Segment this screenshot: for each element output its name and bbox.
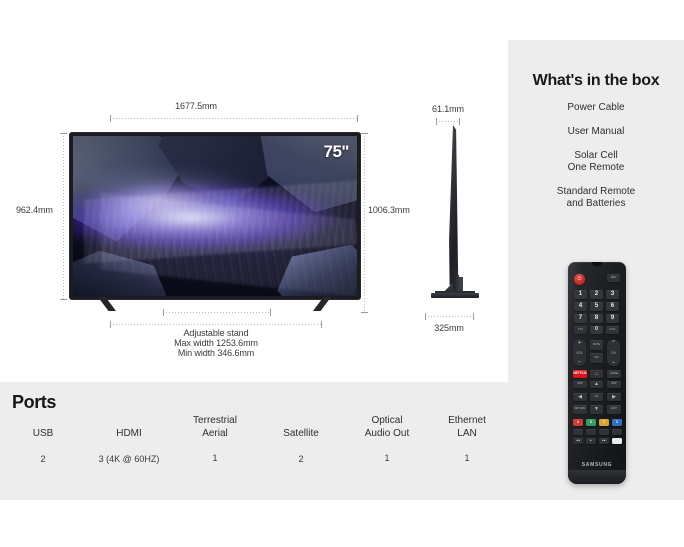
dimension-tick-stand-depth-right: [473, 313, 474, 320]
samsung-brand-logo: SAMSUNG: [568, 462, 626, 468]
key-8[interactable]: 8: [590, 314, 603, 323]
dimension-tick-right: [357, 115, 358, 122]
teletext-button[interactable]: TTX: [574, 326, 587, 334]
dimension-tick-bottom: [60, 299, 67, 300]
exit-button[interactable]: EXIT: [607, 405, 621, 414]
tv-stand-base: [431, 293, 479, 298]
dimension-tick-stand-depth-left: [425, 313, 426, 320]
channel-up-icon[interactable]: ⌃: [611, 341, 615, 346]
box-item-line1: Standard Remote: [508, 186, 684, 198]
dimension-tick-depth-right: [459, 118, 460, 125]
port-value: 3 (4K @ 60HZ): [84, 454, 174, 464]
dimension-tick-stand-max-right: [321, 321, 322, 328]
box-item-line1: User Manual: [508, 126, 684, 138]
port-value: 2: [262, 454, 340, 464]
port-name-line2: Aerial: [172, 428, 258, 441]
dimension-tick-depth-left: [436, 118, 437, 125]
port-column-hdmi: HDMI 3 (4K @ 60HZ): [84, 428, 174, 464]
port-column-ethernet-lan: Ethernet LAN 1: [432, 415, 502, 463]
volume-label: VOL: [576, 351, 582, 355]
guide-button[interactable]: GUIDE: [607, 370, 621, 378]
port-column-optical-audio-out: Optical Audio Out 1: [344, 415, 430, 463]
app-shortcut-1-button[interactable]: APP: [573, 381, 587, 388]
box-item-user-manual: User Manual: [508, 126, 684, 138]
ok-button[interactable]: OK: [590, 393, 603, 401]
screen-wallpaper: [73, 136, 357, 296]
ports-panel: Ports USB 2 HDMI 3 (4K @ 60HZ) Terrestri…: [0, 382, 508, 500]
dimension-label-panel-height: 962.4mm: [16, 205, 53, 215]
remote-ir-notch: [592, 262, 602, 266]
key-1[interactable]: 1: [574, 290, 587, 299]
ports-title: Ports: [12, 392, 56, 413]
dimension-line-total-height: [364, 133, 365, 313]
port-value: 1: [344, 453, 430, 463]
key-9[interactable]: 9: [606, 314, 619, 323]
screen-size-badge: 75": [324, 142, 349, 162]
port-value: 2: [12, 454, 74, 464]
box-item-solar-cell-one-remote: Solar Cell One Remote: [508, 150, 684, 174]
port-value: 1: [432, 453, 502, 463]
box-item-power-cable: Power Cable: [508, 102, 684, 114]
port-column-terrestrial-aerial: Terrestrial Aerial 1: [172, 415, 258, 463]
tv-side-view: [425, 125, 485, 310]
tv-front-view: 75": [70, 133, 360, 299]
port-name-line1: Satellite: [262, 428, 340, 441]
tv-leg-left: [98, 297, 116, 311]
box-item-line2: and Batteries: [508, 198, 684, 210]
color-button-blue[interactable]: D: [612, 419, 622, 426]
dimension-tick-stand-max-left: [110, 321, 111, 328]
dimension-tick-total-top: [361, 133, 368, 134]
tv-screen: 75": [73, 136, 357, 296]
port-column-satellite: Satellite 2: [262, 428, 340, 464]
dimension-line-stand-max: [110, 324, 322, 325]
key-5[interactable]: 5: [590, 302, 603, 311]
dimension-tick-stand-min-left: [163, 309, 164, 316]
remote-bottom-cap: [568, 470, 626, 484]
pre-channel-button[interactable]: P.CH: [606, 326, 619, 334]
media-button-2[interactable]: [586, 429, 596, 435]
box-item-line1: Power Cable: [508, 102, 684, 114]
port-name-line1: Optical: [344, 415, 430, 428]
whats-in-the-box-title: What's in the box: [508, 72, 684, 90]
stand-max-width-label: Max width 1253.6mm: [174, 338, 258, 348]
media-forward-button[interactable]: ▶▶: [599, 438, 609, 444]
volume-up-icon[interactable]: +: [578, 341, 581, 346]
tv-side-panel: [447, 125, 460, 285]
media-button-1[interactable]: [573, 429, 583, 435]
dimension-label-stand-depth: 325mm: [434, 323, 464, 333]
key-0[interactable]: 0: [590, 326, 603, 334]
stand-min-width-label: Min width 346.6mm: [178, 348, 254, 358]
media-button-3[interactable]: [599, 429, 609, 435]
port-name-line1: HDMI: [84, 428, 174, 441]
port-name-line1: Terrestrial: [172, 415, 258, 428]
port-name-line2: Audio Out: [344, 428, 430, 441]
port-name-line1: Ethernet: [432, 415, 502, 428]
box-item-standard-remote-batteries: Standard Remote and Batteries: [508, 186, 684, 210]
color-button-green[interactable]: B: [586, 419, 596, 426]
color-button-red[interactable]: A: [573, 419, 583, 426]
port-value: 1: [172, 453, 258, 463]
dimension-tick-total-bottom: [361, 312, 368, 313]
dimension-tick-left: [110, 115, 111, 122]
port-name-line2: LAN: [432, 428, 502, 441]
dimension-tick-stand-min-right: [270, 309, 271, 316]
stand-title: Adjustable stand: [184, 328, 249, 338]
channel-label: CH: [611, 351, 616, 355]
media-stop-button[interactable]: [612, 438, 622, 444]
channel-down-icon[interactable]: ⌄: [611, 360, 615, 365]
dimension-line-front-width: [110, 118, 358, 119]
source-button[interactable]: SRC: [607, 274, 620, 282]
key-6[interactable]: 6: [606, 302, 619, 311]
power-button[interactable]: ⏻: [574, 274, 585, 285]
dpad-left-button[interactable]: ◀: [573, 393, 587, 401]
dimension-line-stand-min: [163, 312, 271, 313]
key-4[interactable]: 4: [574, 302, 587, 311]
dimension-label-depth: 61.1mm: [432, 104, 464, 114]
box-item-line1: Solar Cell: [508, 150, 684, 162]
mute-button[interactable]: MUTE: [590, 340, 603, 350]
product-spec-sheet: 1677.5mm 962.4mm 1006.3mm: [0, 0, 684, 547]
dimension-label-total-height: 1006.3mm: [368, 205, 410, 215]
dimension-line-stand-depth: [425, 316, 474, 317]
remote-control: ⏻ SRC 1 2 3 4 5 6 7 8 9 TTX 0 P.CH + VOL…: [568, 262, 626, 484]
dimension-label-front-width: 1677.5mm: [175, 101, 217, 111]
box-item-line2: One Remote: [508, 162, 684, 174]
dpad-down-button[interactable]: ▼: [590, 405, 603, 414]
tv-leg-right: [313, 297, 331, 311]
home-button[interactable]: ⌂: [590, 370, 603, 378]
dimensions-diagram-area: 1677.5mm 962.4mm 1006.3mm: [0, 0, 508, 382]
key-7[interactable]: 7: [574, 314, 587, 323]
guide-shortcut-button[interactable]: 123: [590, 353, 603, 363]
channel-rocker[interactable]: ⌃ CH ⌄: [607, 340, 620, 366]
dimension-line-panel-height: [63, 133, 64, 299]
netflix-button[interactable]: NETFLIX: [573, 370, 587, 378]
dpad-right-button[interactable]: ▶: [607, 393, 621, 401]
port-column-usb: USB 2: [12, 428, 74, 464]
volume-rocker[interactable]: + VOL −: [573, 340, 586, 366]
volume-down-icon[interactable]: −: [578, 360, 581, 365]
return-button[interactable]: RETURN: [573, 405, 587, 414]
dpad-up-button[interactable]: ▲: [590, 381, 603, 388]
dimension-tick-top: [60, 133, 67, 134]
media-play-button[interactable]: ▶: [586, 438, 596, 444]
key-2[interactable]: 2: [590, 290, 603, 299]
key-3[interactable]: 3: [606, 290, 619, 299]
media-button-4[interactable]: [612, 429, 622, 435]
color-button-yellow[interactable]: C: [599, 419, 609, 426]
app-shortcut-2-button[interactable]: APP: [607, 381, 621, 388]
media-rewind-button[interactable]: ◀◀: [573, 438, 583, 444]
dimension-line-depth: [436, 121, 460, 122]
port-name-line1: USB: [12, 428, 74, 441]
